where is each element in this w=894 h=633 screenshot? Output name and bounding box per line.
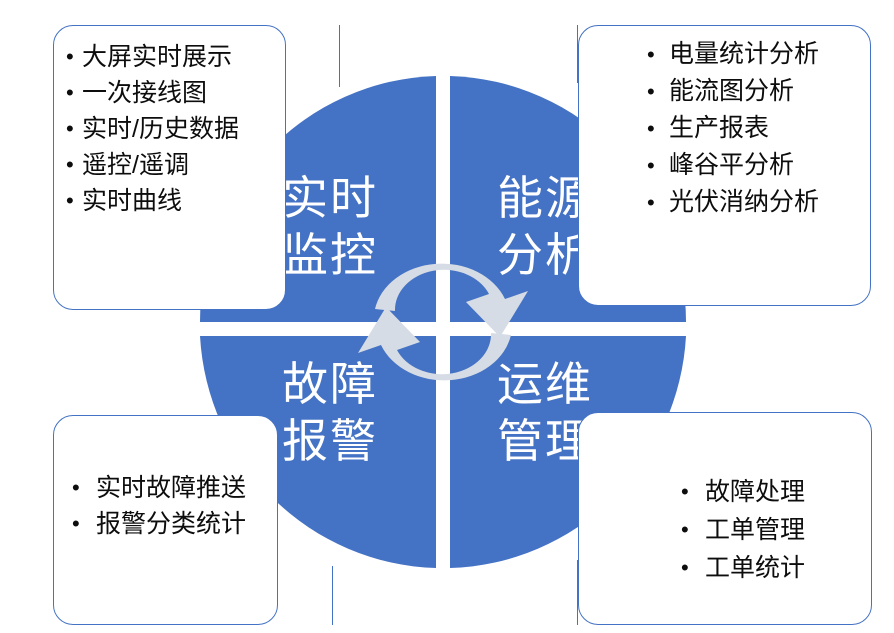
list-item: 实时/历史数据: [66, 111, 285, 147]
list-item: 工单管理: [681, 511, 871, 549]
list-item: 电量统计分析: [647, 36, 852, 73]
callout-list-fault-alarm: 实时故障推送 报警分类统计: [54, 416, 277, 542]
list-item: 大屏实时展示: [66, 39, 285, 75]
connector-line-bottom-left: [332, 566, 333, 625]
list-item: 一次接线图: [66, 75, 285, 111]
list-item: 实时曲线: [66, 183, 285, 219]
callout-list-realtime-monitor: 大屏实时展示 一次接线图 实时/历史数据 遥控/遥调 实时曲线: [54, 26, 285, 219]
callout-box-realtime-monitor: 大屏实时展示 一次接线图 实时/历史数据 遥控/遥调 实时曲线: [53, 25, 286, 310]
list-item: 报警分类统计: [72, 506, 256, 542]
list-item: 能流图分析: [647, 73, 852, 110]
list-item: 峰谷平分析: [647, 147, 852, 184]
list-item: 故障处理: [681, 473, 871, 511]
diagram-canvas: 大屏实时展示 一次接线图 实时/历史数据 遥控/遥调 实时曲线 电量统计分析 能…: [0, 0, 894, 633]
list-item: 光伏消纳分析: [647, 184, 852, 221]
list-item: 工单统计: [681, 549, 871, 587]
callout-box-energy-analysis: 电量统计分析 能流图分析 生产报表 峰谷平分析 光伏消纳分析: [578, 25, 871, 306]
list-item: 生产报表: [647, 110, 852, 147]
callout-box-fault-alarm: 实时故障推送 报警分类统计: [53, 415, 278, 625]
callout-box-om-management: 故障处理 工单管理 工单统计: [578, 412, 872, 625]
callout-list-energy-analysis: 电量统计分析 能流图分析 生产报表 峰谷平分析 光伏消纳分析: [579, 26, 870, 221]
callout-list-om-management: 故障处理 工单管理 工单统计: [579, 413, 871, 587]
list-item: 实时故障推送: [72, 470, 256, 506]
list-item: 遥控/遥调: [66, 147, 285, 183]
